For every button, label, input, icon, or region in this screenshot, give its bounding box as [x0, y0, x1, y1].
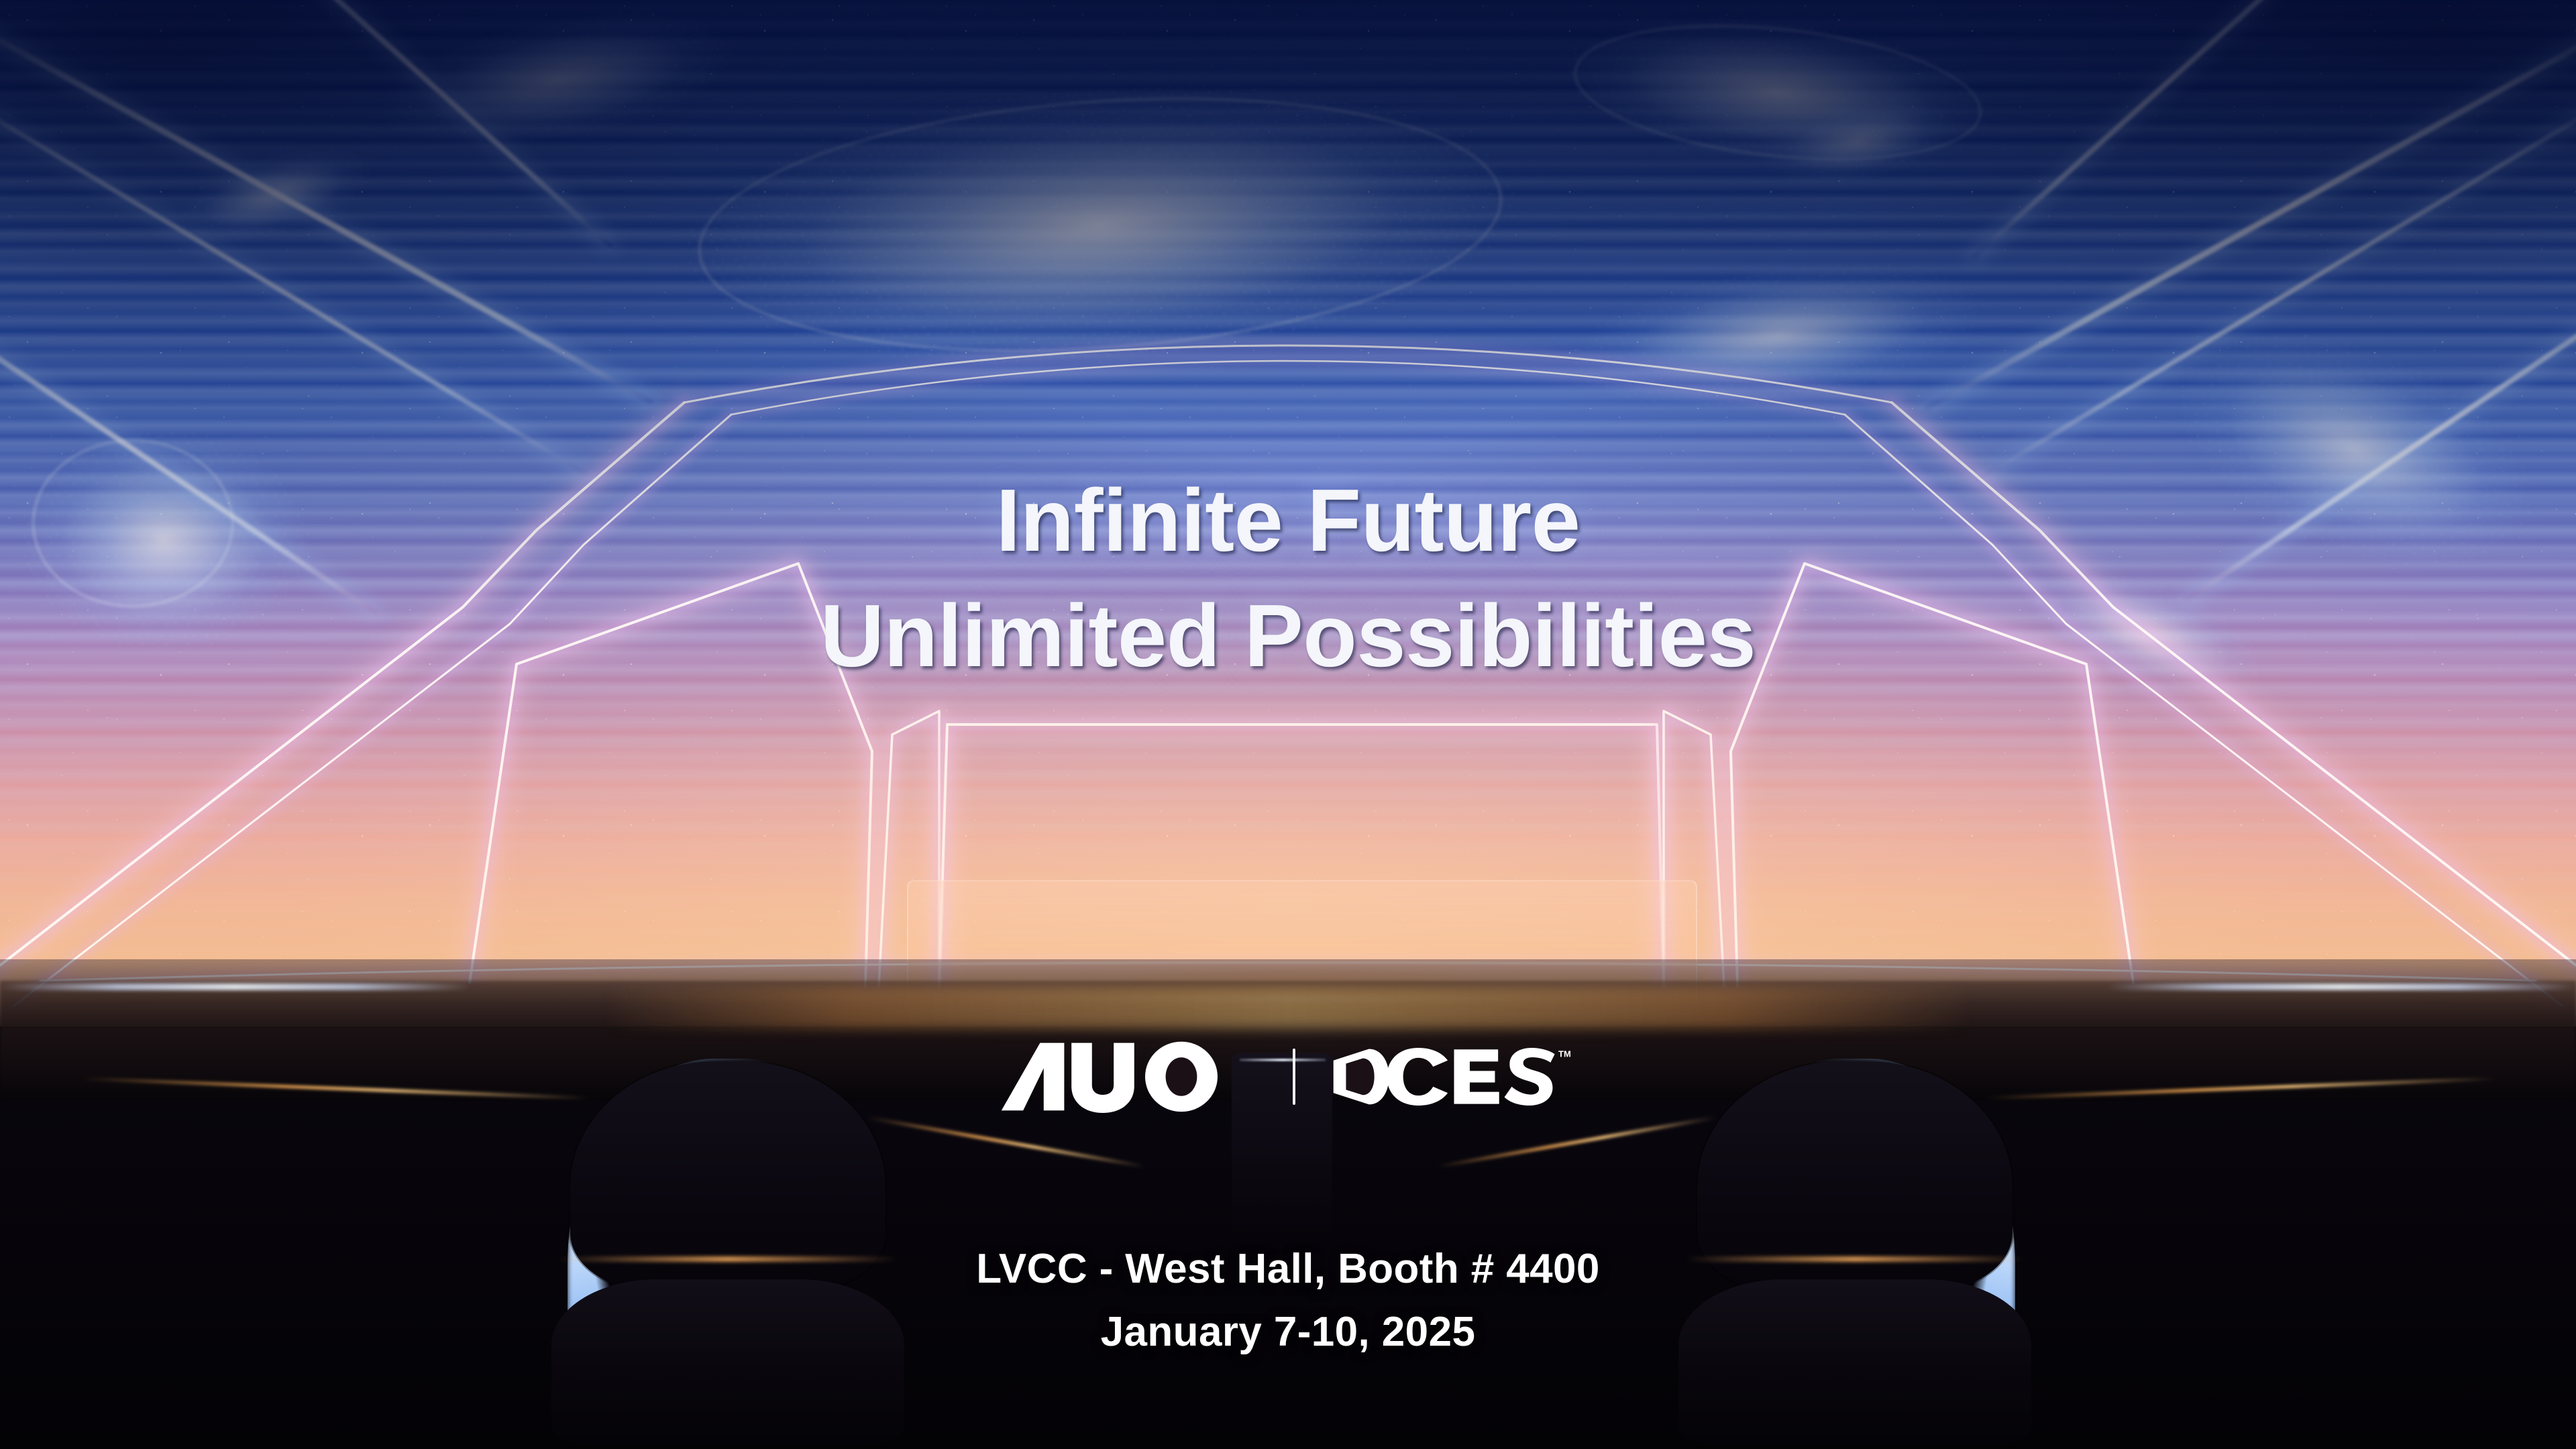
page-title: Infinite Future Unlimited Possibilities	[0, 463, 2576, 693]
ces-logo	[1330, 1048, 1556, 1106]
headline-line-1: Infinite Future	[0, 463, 2576, 578]
ces-logo-wrap: TM	[1330, 1048, 1576, 1106]
event-details: LVCC - West Hall, Booth # 4400 January 7…	[0, 1238, 2576, 1364]
logo-divider	[1293, 1049, 1295, 1105]
trademark-icon: TM	[1558, 1049, 1576, 1067]
door-rail-right	[2106, 983, 2576, 990]
door-rail-left	[0, 983, 470, 990]
venue-text: LVCC - West Hall, Booth # 4400	[0, 1238, 2576, 1301]
logo-lockup: TM	[0, 1033, 2576, 1120]
dates-text: January 7-10, 2025	[0, 1301, 2576, 1364]
headline-line-2: Unlimited Possibilities	[0, 578, 2576, 694]
dashboard-light-sheen	[604, 986, 1972, 1029]
auo-logo	[1000, 1040, 1254, 1113]
key-visual-poster: Infinite Future Unlimited Possibilities	[0, 0, 2576, 1449]
svg-text:TM: TM	[1558, 1049, 1571, 1059]
